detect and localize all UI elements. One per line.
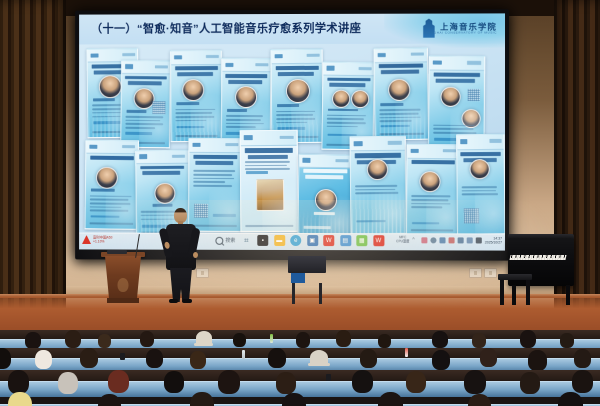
audience-head (98, 394, 121, 406)
list-item[interactable] (85, 140, 139, 230)
projector-equipment-table (288, 256, 326, 304)
edge-icon[interactable]: e (290, 235, 301, 246)
cpu-temp-sub: CPU温度 (396, 240, 409, 244)
audience-head (190, 392, 214, 406)
search-icon (215, 236, 223, 244)
volume-icon[interactable] (449, 237, 455, 243)
audience-head (8, 370, 29, 394)
audience-head (65, 330, 81, 348)
piano-bench (498, 274, 532, 306)
audience-head (520, 372, 540, 394)
audience-head (528, 350, 547, 371)
audience-row (0, 348, 600, 372)
network-icon[interactable] (439, 237, 445, 243)
audience-head (8, 392, 32, 406)
grand-piano (498, 238, 574, 306)
audience-head (432, 350, 450, 370)
audience-head (352, 370, 373, 393)
search-placeholder: 搜索 (225, 237, 235, 244)
audience-head (468, 394, 491, 406)
audience-cap (310, 350, 328, 365)
wps-app-icon[interactable]: ▤ (340, 235, 351, 246)
audience-head (464, 370, 486, 394)
stock-up-icon (82, 235, 91, 244)
audience-head (276, 372, 296, 394)
audience-head (140, 331, 154, 347)
audience-head (164, 371, 184, 393)
podium-emblem (118, 278, 129, 292)
speaker-legs (170, 268, 192, 302)
audience-area (0, 330, 600, 406)
led-display-screen[interactable]: （十一）“智愈·知音”人工智能音乐疗愈系列学术讲座 上海音乐学院 SHANGHA… (79, 13, 505, 250)
wps-writer-icon[interactable]: W (323, 235, 334, 246)
audience-head (146, 349, 163, 368)
list-item[interactable] (297, 154, 352, 241)
audience-head (432, 331, 448, 348)
terminal-icon[interactable]: ▪ (257, 235, 268, 246)
audience-head (560, 333, 574, 348)
audience-head (558, 392, 583, 406)
cpu-temp-widget[interactable]: MFC CPU温度 (396, 237, 409, 244)
audience-head (233, 333, 246, 347)
audience-head (574, 349, 591, 368)
equipment-screen (291, 273, 305, 283)
chevron-up-icon[interactable]: ^ (412, 237, 418, 243)
audience-head (406, 371, 426, 393)
settings-icon[interactable] (430, 237, 436, 243)
audience-head (108, 370, 129, 393)
audience-head (480, 348, 497, 367)
windows-taskbar[interactable]: 富时中国A50 +1.10% 搜索 ⌗ ▪ ▬ e ▣ W (79, 233, 505, 251)
audience-head (378, 392, 403, 406)
wall-outlet (469, 268, 482, 278)
audience-head (58, 372, 78, 394)
list-item[interactable] (406, 144, 459, 237)
list-item[interactable] (240, 130, 299, 232)
speaker (160, 208, 202, 304)
conservatory-building-icon (421, 19, 436, 38)
wall-left-paneling (0, 0, 66, 330)
audience-head (572, 370, 593, 393)
list-item[interactable] (456, 134, 505, 235)
institution-name-en: SHANGHAI CONSERVATORY OF MUSIC (423, 31, 497, 35)
audience-head (472, 333, 486, 348)
audience-head (80, 348, 98, 368)
wooden-podium (101, 252, 145, 304)
wifi-icon[interactable] (458, 237, 464, 243)
audience-head (218, 370, 240, 394)
audience-head (35, 350, 52, 369)
audience-cap (196, 331, 212, 345)
wall-outlet (484, 268, 497, 278)
input-method-icon[interactable] (467, 237, 473, 243)
list-item[interactable] (170, 50, 222, 142)
poster-grid (79, 44, 505, 235)
audience-head (268, 348, 286, 368)
audience-head (520, 330, 536, 348)
page-title: （十一）“智愈·知音”人工智能音乐疗愈系列学术讲座 (91, 20, 361, 37)
audience-head (25, 332, 41, 349)
audience-head (98, 334, 111, 348)
file-explorer-icon[interactable]: ▬ (274, 235, 285, 246)
audience-head (296, 332, 310, 348)
stock-change: +1.10% (93, 240, 112, 244)
camera-icon[interactable]: ▣ (307, 235, 318, 246)
wps-presentation-icon[interactable]: W (373, 235, 384, 246)
list-item[interactable] (374, 47, 429, 140)
battery-icon[interactable] (421, 237, 427, 243)
audience-head (336, 330, 351, 347)
audience-row (0, 392, 600, 406)
slide-header: （十一）“智愈·知音”人工智能音乐疗愈系列学术讲座 上海音乐学院 SHANGHA… (79, 13, 505, 44)
photos-icon[interactable]: ▦ (356, 235, 367, 246)
podium-laptop (107, 250, 127, 254)
led-display-bezel: （十一）“智愈·知音”人工智能音乐疗愈系列学术讲座 上海音乐学院 SHANGHA… (75, 9, 509, 260)
audience-head (378, 334, 391, 348)
list-item[interactable] (350, 136, 407, 235)
audience-head (190, 351, 206, 369)
folder-icon[interactable] (476, 237, 482, 243)
search-input[interactable]: 搜索 (215, 236, 235, 244)
task-view-icon[interactable]: ⌗ (241, 235, 252, 246)
list-item[interactable] (120, 60, 171, 148)
stock-widget[interactable]: 富时中国A50 +1.10% (82, 235, 112, 244)
lecture-hall-photo: （十一）“智愈·知音”人工智能音乐疗愈系列学术讲座 上海音乐学院 SHANGHA… (0, 0, 600, 406)
audience-head (282, 393, 306, 406)
audience-head (360, 349, 377, 368)
